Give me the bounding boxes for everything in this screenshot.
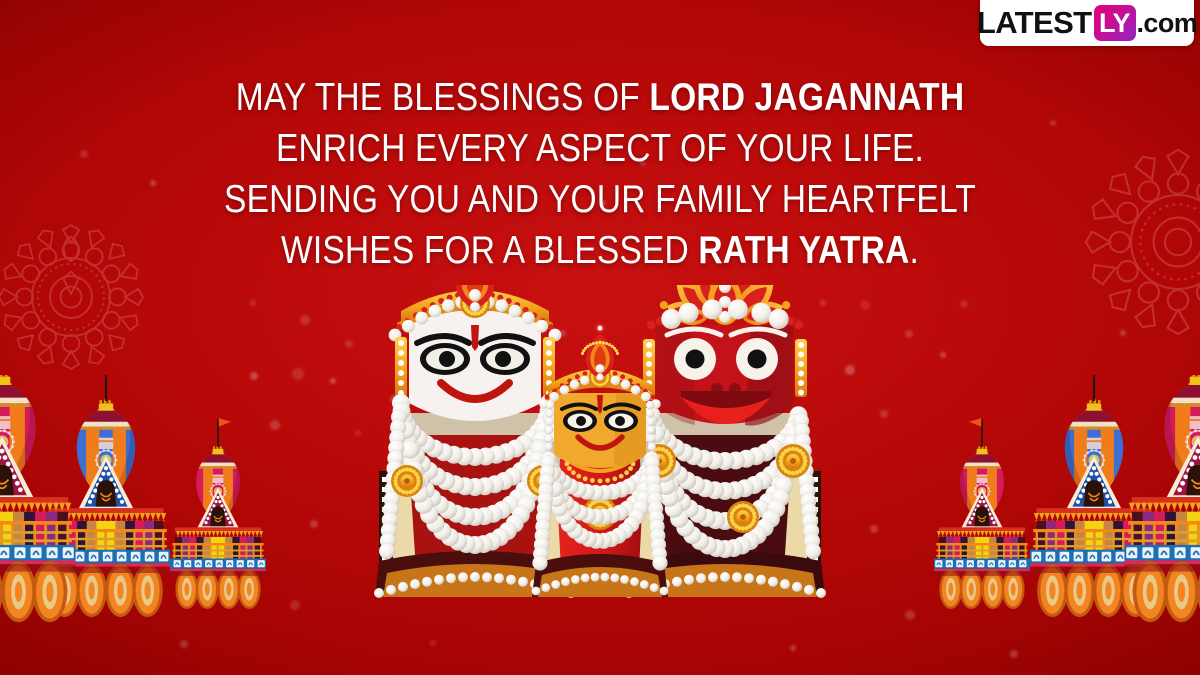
greeting-card: LATEST LY .com MAY THE BLESSINGS OF LORD… (0, 0, 1200, 675)
greeting-line-3: SENDING YOU AND YOUR FAMILY HEARTFELT (84, 174, 1116, 225)
greeting-line-4: WISHES FOR A BLESSED RATH YATRA. (84, 225, 1116, 276)
greeting-line-1: MAY THE BLESSINGS OF LORD JAGANNATH (84, 72, 1116, 123)
greeting-line-3-pre: SENDING YOU AND YOUR FAMILY HEARTFELT (224, 178, 976, 221)
latestly-logo[interactable]: LATEST LY .com (980, 0, 1194, 46)
greeting-line-4-post: . (909, 229, 919, 272)
greeting-line-2-pre: ENRICH EVERY ASPECT OF YOUR LIFE. (276, 127, 924, 170)
deity-group (365, 285, 835, 675)
logo-text-com: .com (1137, 8, 1198, 39)
greeting-text-block: MAY THE BLESSINGS OF LORD JAGANNATH ENRI… (0, 72, 1200, 276)
greeting-line-2: ENRICH EVERY ASPECT OF YOUR LIFE. (84, 123, 1116, 174)
logo-text-latest: LATEST (977, 5, 1092, 41)
chariots-right (914, 375, 1200, 675)
greeting-line-1-bold: LORD JAGANNATH (649, 76, 964, 119)
chariots-left (0, 375, 286, 675)
greeting-line-4-bold: RATH YATRA (698, 229, 909, 272)
greeting-line-4-pre: WISHES FOR A BLESSED (281, 229, 698, 272)
greeting-line-1-pre: MAY THE BLESSINGS OF (236, 76, 650, 119)
logo-badge-ly: LY (1094, 5, 1136, 41)
